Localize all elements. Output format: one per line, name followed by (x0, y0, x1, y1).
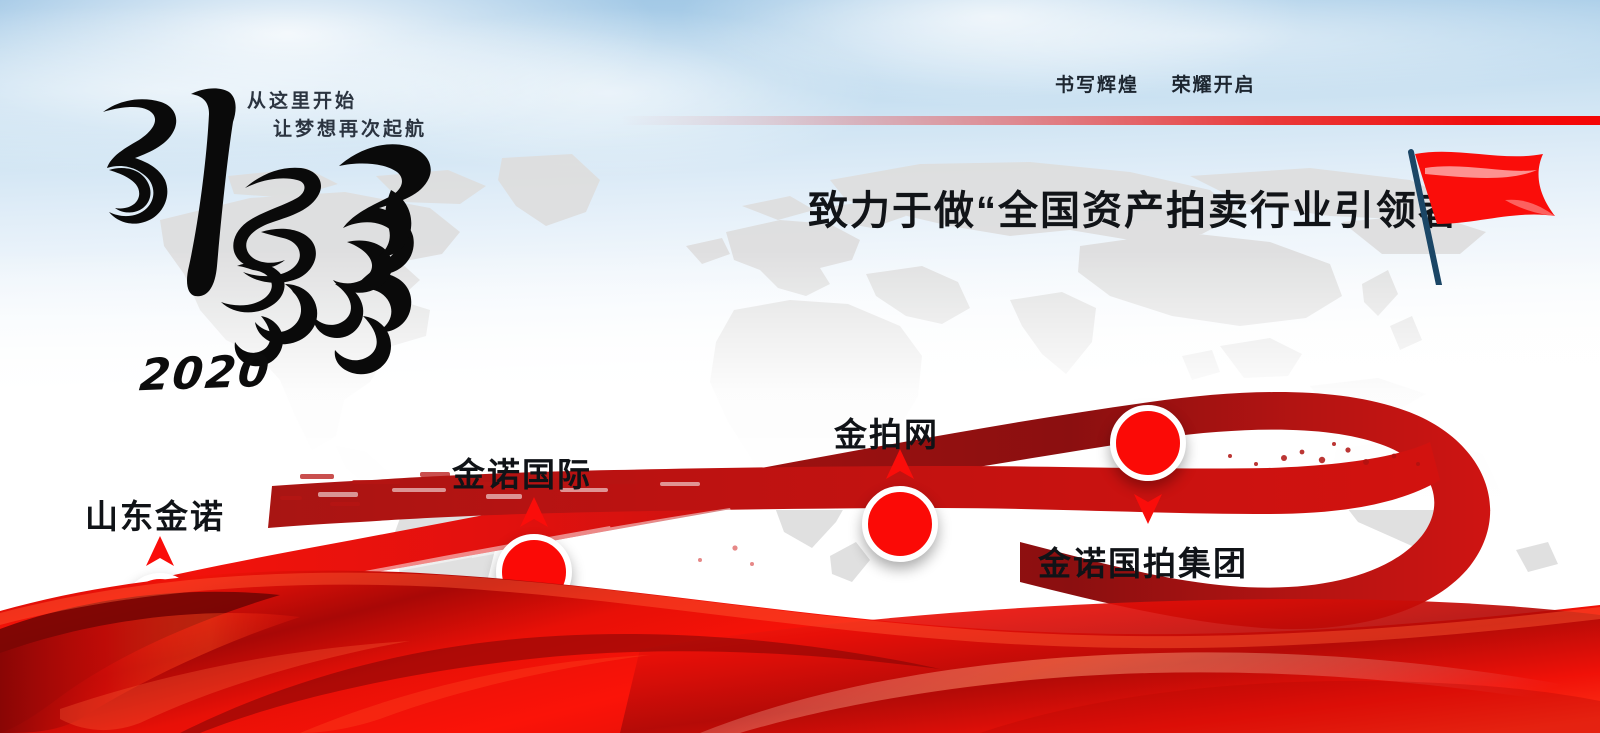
sub-slogan: 从这里开始 让梦想再次起航 (247, 88, 427, 144)
timeline-node-label: 金诺国际 (452, 448, 592, 496)
arrow-up-icon (520, 497, 548, 529)
arrow-up-icon (886, 449, 914, 481)
main-slogan: 致力于做“全国资产拍卖行业引领者” (808, 178, 1482, 236)
arrow-down-icon (1134, 492, 1162, 524)
red-silk-ribbon-icon (0, 533, 1600, 733)
top-slogan: 书写辉煌 荣耀开启 (1055, 70, 1256, 97)
top-slogan-right: 荣耀开启 (1172, 75, 1256, 96)
red-flag-icon (1385, 140, 1600, 285)
top-slogan-left: 书写辉煌 (1055, 75, 1139, 96)
timeline-node-label: 山东金诺 (85, 490, 225, 538)
poster-canvas: 2020 从这里开始 让梦想再次起航 书写辉煌 荣耀开启 致力于做“全国资产拍卖… (0, 0, 1600, 733)
timeline-node-marker[interactable] (1110, 405, 1186, 481)
sub-slogan-line1: 从这里开始 (247, 91, 357, 112)
sub-slogan-line2: 让梦想再次起航 (247, 116, 427, 144)
red-divider-line (620, 116, 1600, 125)
